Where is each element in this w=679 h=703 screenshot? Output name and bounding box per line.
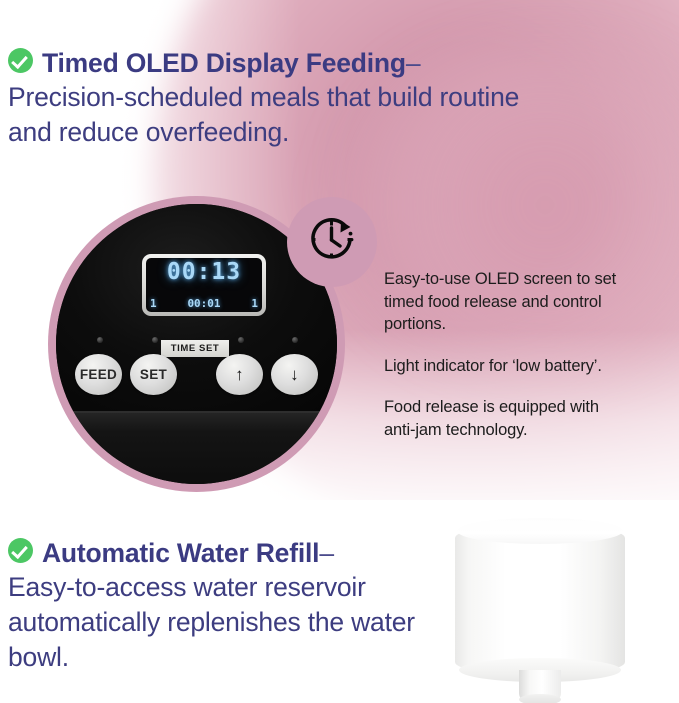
feature-timed-oled-display-feeding: Timed OLED Display Feeding– Precision-sc… xyxy=(8,48,553,150)
down-arrow-button[interactable]: ↓ xyxy=(271,354,318,395)
reservoir-top-rim xyxy=(457,518,623,544)
arrow-down-icon: ↓ xyxy=(290,366,299,383)
oled-sub-time: 00:01 xyxy=(187,298,220,310)
feature-2-heading-text: Automatic Water Refill xyxy=(42,538,319,568)
reservoir-spout-lip xyxy=(519,694,561,703)
oled-left-index: 1 xyxy=(150,298,157,310)
feed-button[interactable]: FEED xyxy=(75,354,122,395)
feature-highlights-page: Timed OLED Display Feeding– Precision-sc… xyxy=(0,0,679,703)
feature-2-heading-dash: – xyxy=(319,538,334,568)
feature-2-body: Easy-to-access water reservoir automatic… xyxy=(8,570,468,675)
device-caption-column: Easy-to-use OLED screen to set timed foo… xyxy=(384,268,624,441)
feature-1-heading-text: Timed OLED Display Feeding xyxy=(42,48,406,78)
feature-2-heading: Automatic Water Refill– xyxy=(42,538,334,568)
led-indicator-3 xyxy=(238,337,244,343)
oled-right-index: 1 xyxy=(251,298,258,310)
caption-low-battery: Light indicator for ‘low battery’. xyxy=(384,355,624,378)
led-indicator-2 xyxy=(152,337,158,343)
feature-automatic-water-refill: Automatic Water Refill– Easy-to-access w… xyxy=(8,538,468,675)
time-set-label: TIME SET xyxy=(161,340,229,357)
caption-anti-jam: Food release is equipped with anti-jam t… xyxy=(384,396,624,441)
up-arrow-button[interactable]: ↑ xyxy=(216,354,263,395)
led-indicator-1 xyxy=(97,337,103,343)
check-circle-icon xyxy=(8,538,33,563)
oled-screen-bezel: 00:13 1 00:01 1 xyxy=(142,254,266,316)
reservoir-body xyxy=(455,524,625,676)
arrow-up-icon: ↑ xyxy=(235,366,244,383)
feature-1-heading: Timed OLED Display Feeding– xyxy=(42,48,420,78)
oled-main-time: 00:13 xyxy=(146,260,262,285)
water-reservoir-photo xyxy=(455,518,625,703)
feature-1-body: Precision-scheduled meals that build rou… xyxy=(8,80,553,150)
led-indicator-4 xyxy=(292,337,298,343)
oled-status-row: 1 00:01 1 xyxy=(150,298,258,310)
feature-1-headline-row: Timed OLED Display Feeding– xyxy=(8,48,553,78)
oled-screen: 00:13 1 00:01 1 xyxy=(146,258,262,312)
set-button[interactable]: SET xyxy=(130,354,177,395)
device-lower-body xyxy=(56,411,337,484)
clock-timer-icon xyxy=(305,215,359,269)
feature-2-headline-row: Automatic Water Refill– xyxy=(8,538,468,568)
feature-1-heading-dash: – xyxy=(406,48,421,78)
clock-timer-icon-badge xyxy=(287,197,377,287)
caption-oled-screen: Easy-to-use OLED screen to set timed foo… xyxy=(384,268,624,336)
check-circle-icon xyxy=(8,48,33,73)
